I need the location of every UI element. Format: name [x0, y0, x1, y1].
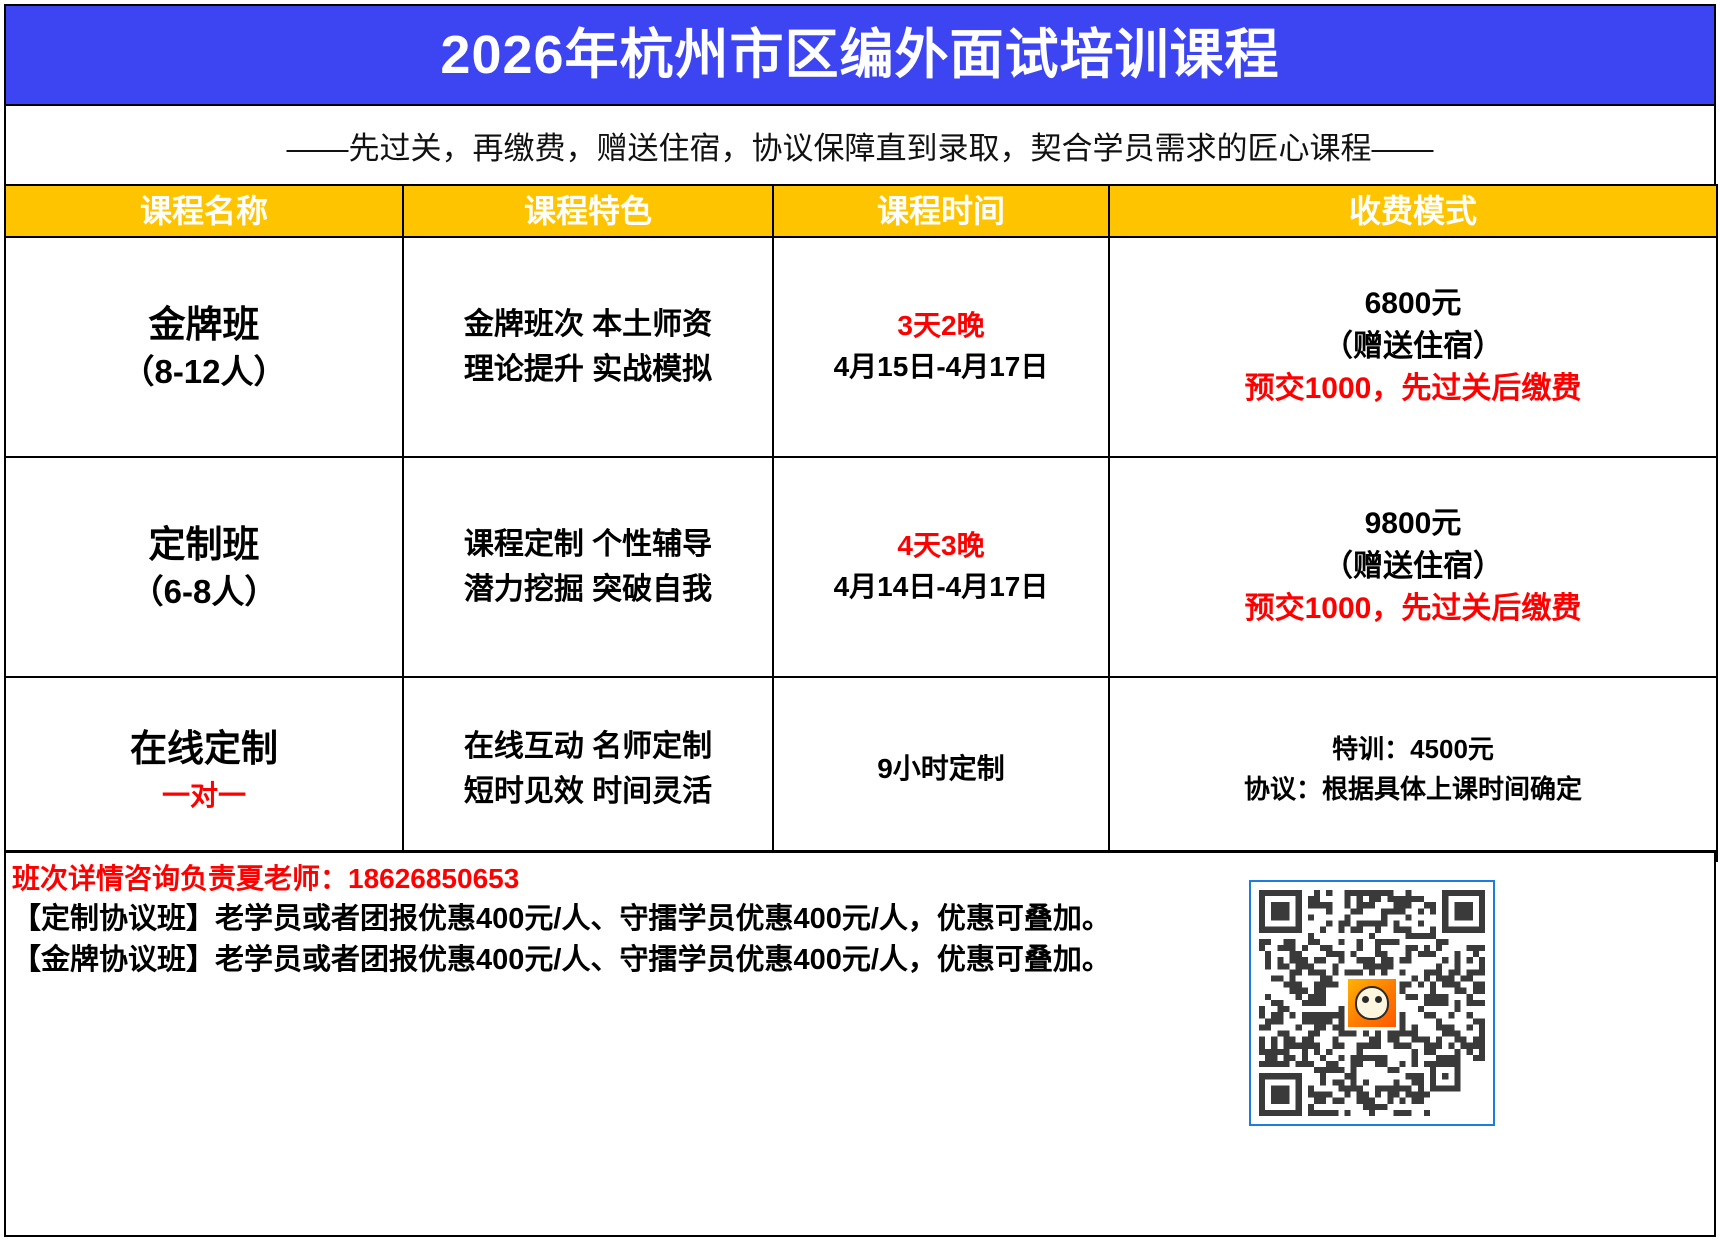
title-banner: 2026年杭州市区编外面试培训课程 — [4, 4, 1716, 106]
course-dates-label: 4月14日-4月17日 — [834, 571, 1049, 602]
contact-line: 班次详情咨询负责夏老师：18626850653 — [12, 859, 1192, 899]
discount-note-gold: 【金牌协议班】老学员或者团报优惠400元/人、守擂学员优惠400元/人，优惠可叠… — [12, 940, 1192, 981]
course-name-label: 定制班 — [6, 520, 402, 569]
fee-bonus-label: （赠送住宿） — [1110, 546, 1716, 589]
table-row: 定制班 （6-8人） 课程定制 个性辅导 潜力挖掘 突破自我 4天3晚 4月14… — [5, 457, 1717, 677]
course-name-label: 金牌班 — [6, 300, 402, 349]
qr-canvas — [1259, 890, 1485, 1116]
column-header-course-name: 课程名称 — [5, 185, 403, 237]
course-dates-label: 9小时定制 — [877, 753, 1005, 784]
fee-training-label: 特训：4500元 — [1110, 729, 1716, 769]
course-capacity-label: （8-12人） — [6, 350, 402, 394]
qr-code[interactable] — [1249, 880, 1495, 1126]
footer-section: 班次详情咨询负责夏老师：18626850653 【定制协议班】老学员或者团报优惠… — [4, 850, 1716, 1237]
table-row: 金牌班 （8-12人） 金牌班次 本土师资 理论提升 实战模拟 3天2晚 4月1… — [5, 237, 1717, 457]
footer-text-block: 班次详情咨询负责夏老师：18626850653 【定制协议班】老学员或者团报优惠… — [12, 859, 1192, 981]
course-feature-cell: 在线互动 名师定制 短时见效 时间灵活 — [403, 677, 773, 861]
course-mode-label: 一对一 — [6, 777, 402, 814]
course-dates-label: 4月15日-4月17日 — [834, 351, 1049, 382]
column-header-course-time: 课程时间 — [773, 185, 1109, 237]
course-name-cell: 金牌班 （8-12人） — [5, 237, 403, 457]
fee-agreement-label: 协议：根据具体上课时间确定 — [1110, 769, 1716, 809]
subtitle-text: ——先过关，再缴费，赠送住宿，协议保障直到录取，契合学员需求的匠心课程—— — [287, 123, 1434, 168]
course-time-cell: 9小时定制 — [773, 677, 1109, 861]
table-header-row: 课程名称 课程特色 课程时间 收费模式 — [5, 185, 1717, 237]
fee-bonus-label: （赠送住宿） — [1110, 326, 1716, 369]
course-time-cell: 3天2晚 4月15日-4月17日 — [773, 237, 1109, 457]
column-header-course-feature: 课程特色 — [403, 185, 773, 237]
qr-center-logo-icon — [1346, 977, 1398, 1029]
course-duration-label: 4天3晚 — [774, 526, 1108, 567]
course-fee-cell: 特训：4500元 协议：根据具体上课时间确定 — [1109, 677, 1717, 861]
column-header-fee-mode: 收费模式 — [1109, 185, 1717, 237]
course-fee-cell: 6800元 （赠送住宿） 预交1000，先过关后缴费 — [1109, 237, 1717, 457]
course-fee-cell: 9800元 （赠送住宿） 预交1000，先过关后缴费 — [1109, 457, 1717, 677]
subtitle-row: ——先过关，再缴费，赠送住宿，协议保障直到录取，契合学员需求的匠心课程—— — [4, 106, 1716, 184]
discount-note-custom: 【定制协议班】老学员或者团报优惠400元/人、守擂学员优惠400元/人，优惠可叠… — [12, 899, 1192, 940]
fee-deposit-label: 预交1000，先过关后缴费 — [1110, 368, 1716, 411]
course-table: 课程名称 课程特色 课程时间 收费模式 金牌班 （8-12人） 金牌班次 本土师… — [4, 184, 1718, 862]
page-title: 2026年杭州市区编外面试培训课程 — [440, 28, 1279, 82]
course-time-cell: 4天3晚 4月14日-4月17日 — [773, 457, 1109, 677]
course-name-label: 在线定制 — [6, 724, 402, 773]
fee-deposit-label: 预交1000，先过关后缴费 — [1110, 588, 1716, 631]
course-feature-cell: 金牌班次 本土师资 理论提升 实战模拟 — [403, 237, 773, 457]
course-duration-label: 3天2晚 — [774, 306, 1108, 347]
course-capacity-label: （6-8人） — [6, 570, 402, 614]
course-name-cell: 在线定制 一对一 — [5, 677, 403, 861]
bear-mascot-icon — [1355, 986, 1389, 1020]
fee-amount-label: 6800元 — [1110, 283, 1716, 326]
course-poster: 2026年杭州市区编外面试培训课程 ——先过关，再缴费，赠送住宿，协议保障直到录… — [0, 0, 1720, 1241]
course-feature-cell: 课程定制 个性辅导 潜力挖掘 突破自我 — [403, 457, 773, 677]
table-row: 在线定制 一对一 在线互动 名师定制 短时见效 时间灵活 9小时定制 特训：45… — [5, 677, 1717, 861]
course-name-cell: 定制班 （6-8人） — [5, 457, 403, 677]
fee-amount-label: 9800元 — [1110, 503, 1716, 546]
